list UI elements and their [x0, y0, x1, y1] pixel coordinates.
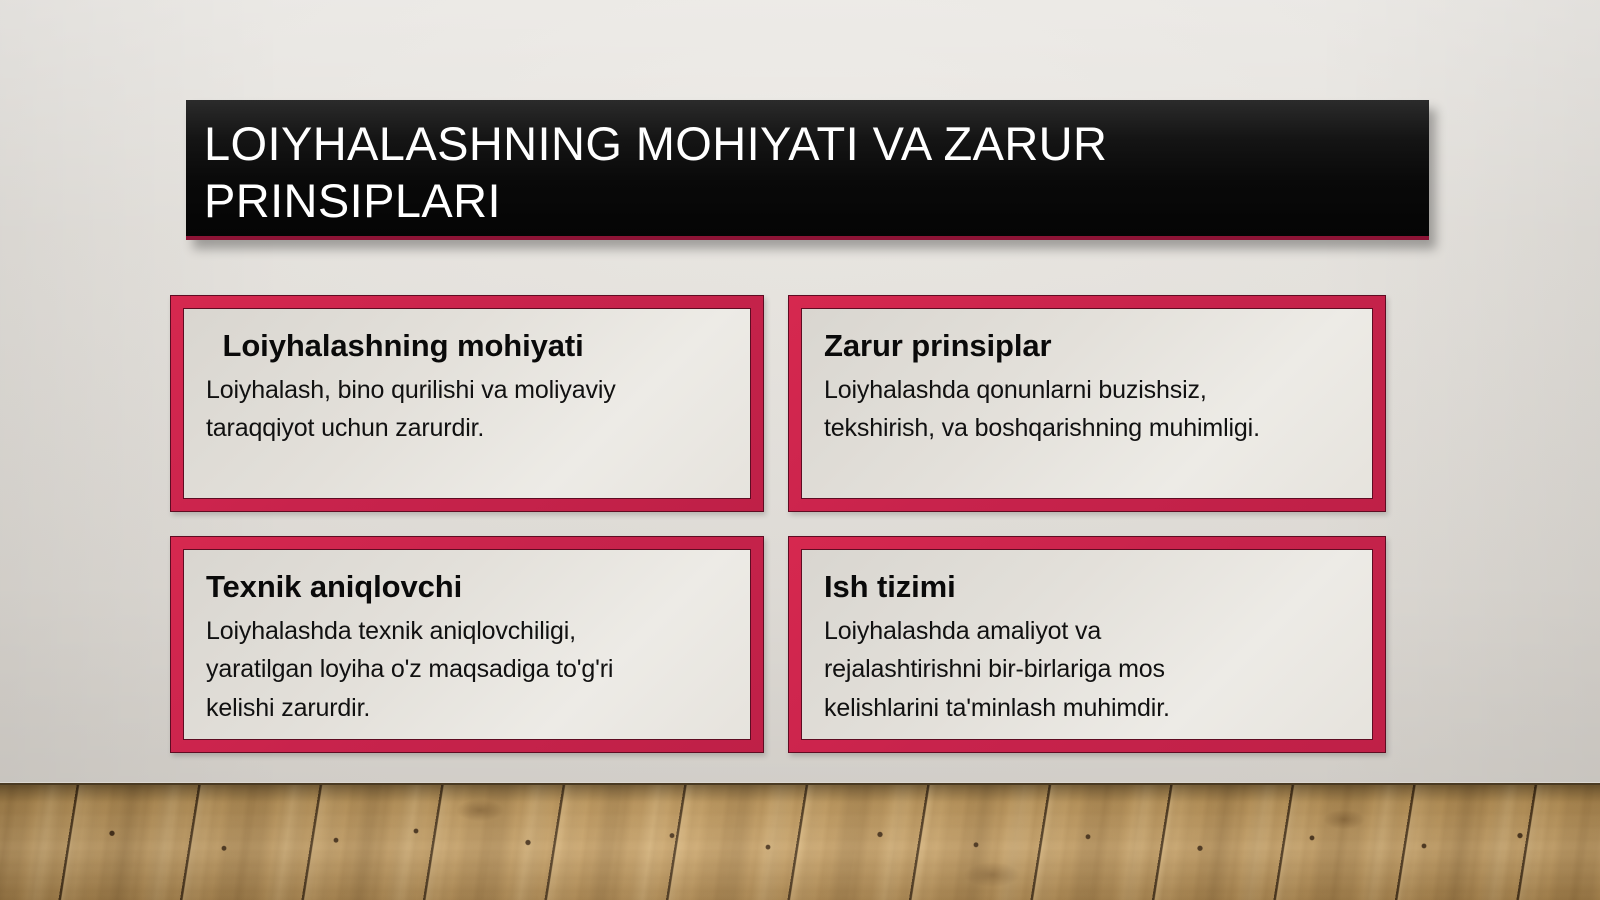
card-loiyhalashning-mohiyati[interactable]: Loiyhalashning mohiyati Loiyhalash, bino…	[170, 295, 764, 512]
card-title: Zarur prinsiplar	[824, 329, 1350, 363]
wooden-floor	[0, 783, 1600, 900]
card-body: Loiyhalashda amaliyot va rejalashtirishn…	[824, 612, 1350, 727]
card-texnik-aniqlovchi[interactable]: Texnik aniqlovchi Loiyhalashda texnik an…	[170, 536, 764, 753]
presentation-slide: LOIYHALASHNING MOHIYATI VA ZARUR PRINSIP…	[0, 0, 1600, 900]
card-body: Loiyhalashda texnik aniqlovchiligi, yara…	[206, 612, 728, 727]
card-title: Ish tizimi	[824, 570, 1350, 604]
card-zarur-prinsiplar[interactable]: Zarur prinsiplar Loiyhalashda qonunlarni…	[788, 295, 1386, 512]
floor-wood-knots	[0, 785, 1600, 900]
card-inner-panel: Zarur prinsiplar Loiyhalashda qonunlarni…	[801, 308, 1373, 499]
slide-title-banner: LOIYHALASHNING MOHIYATI VA ZARUR PRINSIP…	[186, 100, 1429, 240]
card-title: Loiyhalashning mohiyati	[206, 329, 728, 363]
card-inner-panel: Ish tizimi Loiyhalashda amaliyot va reja…	[801, 549, 1373, 740]
card-body: Loiyhalashda qonunlarni buzishsiz, teksh…	[824, 371, 1350, 448]
card-title: Texnik aniqlovchi	[206, 570, 728, 604]
content-card-grid: Loiyhalashning mohiyati Loiyhalash, bino…	[170, 295, 1386, 753]
card-body: Loiyhalash, bino qurilishi va moliyaviy …	[206, 371, 728, 448]
card-ish-tizimi[interactable]: Ish tizimi Loiyhalashda amaliyot va reja…	[788, 536, 1386, 753]
slide-title: LOIYHALASHNING MOHIYATI VA ZARUR PRINSIP…	[204, 116, 1107, 230]
card-inner-panel: Texnik aniqlovchi Loiyhalashda texnik an…	[183, 549, 751, 740]
card-inner-panel: Loiyhalashning mohiyati Loiyhalash, bino…	[183, 308, 751, 499]
